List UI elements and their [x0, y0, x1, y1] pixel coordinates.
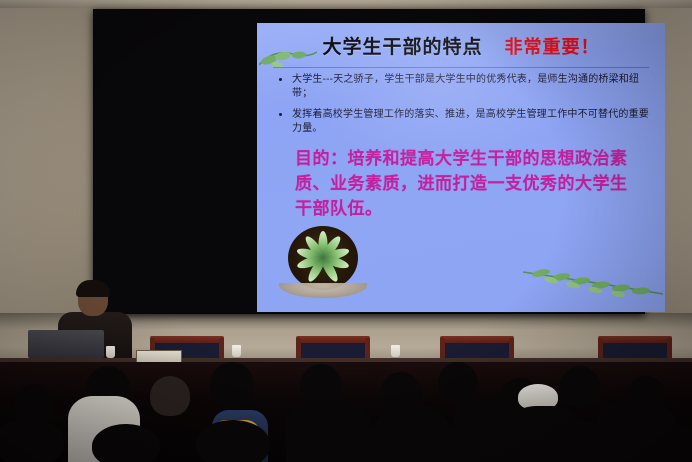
paper-cup	[106, 346, 115, 358]
audience-head	[92, 424, 160, 462]
vine-decoration-icon	[523, 264, 663, 298]
slide-title-row: 大学生干部的特点非常重要！	[257, 32, 665, 59]
audience-foreground	[0, 362, 692, 462]
bullet-dot-icon	[279, 78, 282, 81]
bullet-dot-icon	[279, 113, 282, 116]
left-wall	[0, 8, 96, 328]
audience-head	[540, 420, 614, 462]
stage-chair	[598, 336, 672, 360]
bullet-text: 发挥着高校学生管理工作的落实、推进，是高校学生管理工作中不可替代的重要力量。	[292, 109, 649, 134]
audience-head	[196, 420, 270, 462]
paper-cup	[391, 345, 400, 357]
paper-cup	[232, 345, 241, 357]
audience-head	[150, 376, 190, 416]
audience-head	[318, 422, 390, 462]
projection-screen-frame: 大学生干部的特点非常重要！ 大学生---天之骄子，学生干部是大学生中的优秀代表，…	[93, 9, 645, 314]
lecture-hall-photo: 大学生干部的特点非常重要！ 大学生---天之骄子，学生干部是大学生中的优秀代表，…	[0, 0, 692, 462]
laptop	[28, 330, 104, 362]
list-item: 发挥着高校学生管理工作的落实、推进，是高校学生管理工作中不可替代的重要力量。	[277, 108, 651, 136]
projected-slide: 大学生干部的特点非常重要！ 大学生---天之骄子，学生干部是大学生中的优秀代表，…	[257, 23, 665, 312]
title-divider	[273, 67, 649, 68]
stage-chair	[440, 336, 514, 360]
laptop-screen	[28, 330, 104, 358]
plant-photo-circle	[288, 226, 358, 290]
plant-photo-base-decoration	[279, 283, 367, 298]
list-item: 大学生---天之骄子，学生干部是大学生中的优秀代表，是师生沟通的桥梁和纽带；	[277, 73, 651, 101]
slide-title-emphasis: 非常重要！	[505, 37, 600, 57]
audience-head	[560, 366, 600, 408]
audience-head	[0, 418, 64, 462]
slide-bullet-list: 大学生---天之骄子，学生干部是大学生中的优秀代表，是师生沟通的桥梁和纽带； 发…	[277, 73, 651, 143]
bullet-text: 大学生---天之骄子，学生干部是大学生中的优秀代表，是师生沟通的桥梁和纽带；	[292, 74, 639, 99]
audience-head	[432, 424, 502, 462]
stage-chair	[296, 336, 370, 360]
plant-photo	[279, 226, 367, 298]
ceiling	[0, 0, 692, 9]
presenter-hair	[76, 280, 110, 297]
slide-title: 大学生干部的特点	[322, 37, 482, 58]
slide-purpose-text: 目的：培养和提高大学生干部的思想政治素质、业务素质，进而打造一支优秀的大学生干部…	[295, 146, 635, 221]
audience-head	[210, 362, 254, 408]
